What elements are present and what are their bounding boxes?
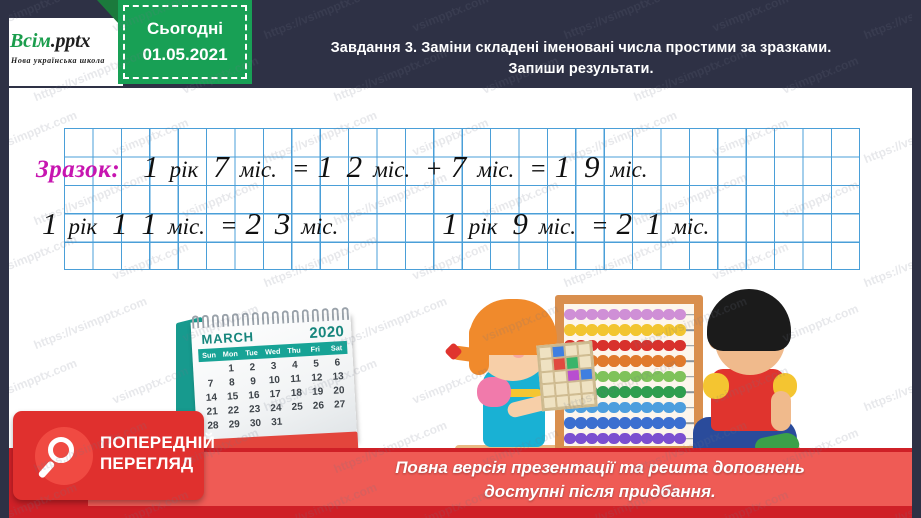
math-token: міс.	[611, 157, 648, 182]
math-token: міс.	[168, 214, 205, 239]
calendar-day	[199, 364, 221, 376]
calendar-day: 20	[328, 385, 350, 397]
calendar-month-label: MARCH	[201, 329, 254, 347]
math-token: 1	[42, 206, 61, 241]
abacus-bead	[641, 309, 653, 321]
math-token: 9	[512, 206, 531, 241]
abacus-bead	[652, 309, 664, 321]
abacus-bead-row	[564, 417, 694, 430]
abacus-bead	[619, 417, 631, 429]
purchase-notice-line-1: Повна версія презентації та решта доповн…	[280, 456, 920, 480]
abacus-bead	[663, 309, 675, 321]
calendar-day	[330, 413, 352, 425]
abacus-bead	[608, 402, 620, 414]
calendar-weekday: Thu	[283, 345, 305, 355]
abacus-bead	[674, 371, 686, 383]
abacus-bead	[597, 417, 609, 429]
abacus-bead	[575, 417, 587, 429]
purchase-notice-line-2: доступні після придбання.	[280, 480, 920, 504]
calendar-day: 31	[266, 416, 288, 428]
abacus-bead	[663, 324, 675, 336]
abacus-bead	[641, 340, 653, 352]
logo-subtitle: Нова українська школа	[11, 56, 105, 65]
abacus-bead	[674, 386, 686, 398]
abacus-bead	[608, 309, 620, 321]
magnifier-handle	[38, 460, 56, 479]
calendar-day: 6	[326, 357, 348, 369]
abacus-bead	[564, 433, 576, 445]
abacus-bead	[641, 355, 653, 367]
abacus-bead	[608, 417, 620, 429]
magnifier-ring	[48, 437, 74, 463]
logo-prefix: Всім	[10, 30, 51, 52]
math-token: 2 3	[245, 206, 293, 241]
math-token: міс.	[240, 157, 277, 182]
abacus-bead	[597, 324, 609, 336]
abacus-bead	[674, 417, 686, 429]
boy-hair	[707, 289, 791, 351]
calendar-spiral-ring	[262, 311, 270, 324]
abacus-bead	[619, 355, 631, 367]
abacus-bead	[597, 371, 609, 383]
calendar-year-label: 2020	[309, 323, 345, 342]
abacus-bead	[674, 340, 686, 352]
calendar-day: 28	[202, 420, 224, 432]
calendar-day: 22	[223, 405, 245, 417]
calendar-spiral-ring	[252, 312, 260, 325]
math-token: 1 9	[555, 149, 603, 184]
math-token: =	[529, 154, 547, 183]
calendar-day: 29	[223, 419, 245, 431]
girl-sleeve	[477, 377, 511, 407]
abacus-bead-row	[564, 308, 694, 321]
abacus-bead	[663, 402, 675, 414]
kids-abacus-illustration	[455, 285, 800, 470]
abacus-bead	[630, 309, 642, 321]
abacus-bead	[619, 324, 631, 336]
abacus-bead	[586, 417, 598, 429]
logo-suffix: .pptx	[51, 30, 91, 52]
calendar-day: 1	[220, 363, 242, 375]
abacus-bead	[641, 386, 653, 398]
abacus-bead	[663, 386, 675, 398]
abacus-bead	[663, 355, 675, 367]
math-token: міс.	[539, 214, 576, 239]
abacus-bead	[630, 433, 642, 445]
abacus-bead	[674, 309, 686, 321]
calendar-day: 26	[308, 400, 330, 412]
abacus-bead	[630, 386, 642, 398]
boy-sleeve-left	[703, 373, 729, 399]
calendar-day: 24	[265, 402, 287, 414]
abacus-bead	[652, 386, 664, 398]
calendar-day: 23	[244, 404, 266, 416]
calendar-day: 25	[286, 401, 308, 413]
preview-button-label: ПОПЕРЕДНІЙ ПЕРЕГЛЯД	[100, 432, 215, 475]
calendar-spiral-ring	[341, 307, 349, 320]
boy-arm	[771, 391, 791, 431]
watermark-text: https://vsimpptx.com	[0, 356, 79, 414]
worksheet-row-1: Зразок: 1рік7міс.=1 2міс.+7міс.=1 9міс.	[0, 149, 796, 185]
abacus-bead	[608, 433, 620, 445]
calendar-spiral-ring	[222, 314, 230, 327]
math-token: =	[292, 154, 310, 183]
abacus-bead	[575, 309, 587, 321]
abacus-bead	[586, 433, 598, 445]
abacus-bead	[641, 371, 653, 383]
today-label: Сьогодні	[147, 16, 223, 42]
calendar-weekday: Sun	[198, 350, 220, 360]
preview-label-line-1: ПОПЕРЕДНІЙ	[100, 432, 215, 453]
abacus-bead	[630, 402, 642, 414]
calendar-day: 4	[284, 359, 306, 371]
math-token: рік	[170, 157, 199, 182]
today-date: 01.05.2021	[142, 42, 227, 68]
abacus-bead	[630, 340, 642, 352]
calendar-day: 7	[200, 378, 222, 390]
sample-label: Зразок:	[36, 156, 120, 183]
abacus-bead	[641, 324, 653, 336]
slide-canvas: MARCH 2020 SunMonTueWedThuFriSat 1234567…	[0, 0, 921, 518]
math-token: рік	[469, 214, 498, 239]
abacus-bead	[641, 402, 653, 414]
abacus-bead	[652, 402, 664, 414]
calendar-spiral-ring	[292, 310, 300, 323]
calendar-spiral-ring	[242, 312, 250, 325]
abacus-bead	[597, 309, 609, 321]
abacus-bead	[586, 309, 598, 321]
calendar-day: 8	[221, 377, 243, 389]
abacus-bead	[630, 371, 642, 383]
calendar-spiral-ring	[321, 308, 329, 321]
frame-border-left	[0, 0, 9, 518]
calendar-spiral-ring	[202, 315, 210, 328]
abacus-bead	[641, 433, 653, 445]
calendar-day: 12	[306, 372, 328, 384]
calendar-day: 30	[245, 418, 267, 430]
today-date-badge: Сьогодні 01.05.2021	[118, 0, 252, 84]
preview-button[interactable]: ПОПЕРЕДНІЙ ПЕРЕГЛЯД	[13, 411, 204, 500]
expression-row-2-right: 1рік9міс.=2 1міс.	[442, 221, 709, 238]
calendar-weekday: Tue	[241, 348, 263, 358]
abacus-bead-row	[564, 324, 694, 337]
calendar-day: 19	[307, 386, 329, 398]
abacus-bead	[630, 324, 642, 336]
calendar-day: 27	[329, 399, 351, 411]
header-underline	[0, 88, 921, 93]
calendar-day: 18	[286, 387, 308, 399]
abacus-bead	[619, 309, 631, 321]
calendar-spiral-ring	[212, 314, 220, 327]
task-instruction-line-2: Запиши результати.	[256, 59, 906, 80]
expression-row-1: 1рік7міс.=1 2міс.+7міс.=1 9міс.	[143, 164, 647, 181]
magnifier-icon	[35, 427, 93, 485]
calendar-day: 9	[242, 376, 264, 388]
abacus-bead	[641, 417, 653, 429]
calendar-day: 11	[285, 373, 307, 385]
calendar-spiral-ring	[311, 309, 319, 322]
calendar-weekday: Fri	[304, 344, 326, 354]
abacus-bead	[652, 340, 664, 352]
calendar-day	[287, 415, 309, 427]
calendar-weekday: Sat	[326, 343, 348, 353]
abacus-bead	[619, 340, 631, 352]
math-token: 1 1	[112, 206, 160, 241]
calendar-day: 14	[201, 392, 223, 404]
worksheet-row-2: 1рік1 1міс.=2 3міс. 1рік9міс.=2 1міс.	[0, 206, 796, 242]
abacus-bead	[619, 371, 631, 383]
abacus-bead	[597, 402, 609, 414]
calendar-day: 5	[305, 358, 327, 370]
abacus-bead	[608, 355, 620, 367]
abacus-bead	[652, 371, 664, 383]
calendar-page: MARCH 2020 SunMonTueWedThuFriSat 1234567…	[191, 314, 358, 451]
math-token: =	[591, 211, 609, 240]
calendar-spiral-ring	[232, 313, 240, 326]
abacus-bead	[575, 433, 587, 445]
logo-wordmark: Всім.pptx	[10, 30, 90, 53]
math-token: міс.	[301, 214, 338, 239]
abacus-bead	[586, 324, 598, 336]
task-instruction: Завдання 3. Заміни складені іменовані чи…	[256, 38, 906, 80]
calendar-day: 15	[222, 391, 244, 403]
abacus-bead	[674, 355, 686, 367]
calendar-day: 21	[201, 406, 223, 418]
calendar-weekday: Wed	[262, 346, 284, 356]
math-token: =	[220, 211, 238, 240]
abacus-bead	[663, 340, 675, 352]
badge-corner-flap	[97, 0, 119, 24]
abacus-bead	[652, 355, 664, 367]
frame-border-right	[912, 0, 921, 518]
abacus-bead	[630, 417, 642, 429]
calendar-day-grid: 1234567891011121314151617181920212223242…	[199, 357, 352, 435]
calendar-spiral-ring	[192, 315, 200, 328]
math-token: міс.	[477, 157, 514, 182]
math-token: міс.	[672, 214, 709, 239]
calendar-spiral-ring	[272, 311, 280, 324]
abacus-bead	[608, 371, 620, 383]
calendar-day: 13	[327, 371, 349, 383]
abacus-bead	[597, 355, 609, 367]
calendar-day: 2	[241, 362, 263, 374]
abacus-bead	[619, 386, 631, 398]
math-token: 7	[213, 149, 232, 184]
abacus-bead	[674, 324, 686, 336]
math-token: 1 2	[317, 149, 365, 184]
purchase-notice: Повна версія презентації та решта доповн…	[280, 456, 920, 504]
abacus-bead	[652, 433, 664, 445]
math-token: +	[425, 154, 443, 183]
abacus-bead	[564, 324, 576, 336]
abacus-bead	[597, 386, 609, 398]
abacus-bead	[630, 355, 642, 367]
calendar-day: 3	[263, 360, 285, 372]
abacus-bead	[652, 417, 664, 429]
math-token: 1	[143, 149, 162, 184]
abacus-bead	[608, 324, 620, 336]
abacus-bead	[608, 340, 620, 352]
calendar-day: 17	[264, 388, 286, 400]
abacus-bead	[564, 309, 576, 321]
math-token: рік	[69, 214, 98, 239]
calendar-day: 16	[243, 390, 265, 402]
math-token: міс.	[373, 157, 410, 182]
abacus-bead	[663, 371, 675, 383]
calendar-day: 10	[263, 374, 285, 386]
calendar-day	[308, 414, 330, 426]
abacus-bead	[619, 402, 631, 414]
preview-label-line-2: ПЕРЕГЛЯД	[100, 453, 215, 474]
abacus-bead	[663, 433, 675, 445]
calendar-spiral-ring	[302, 309, 310, 322]
expression-row-2-left: 1рік1 1міс.=2 3міс.	[42, 221, 338, 238]
math-token: 2 1	[617, 206, 665, 241]
task-instruction-line-1: Завдання 3. Заміни складені іменовані чи…	[256, 38, 906, 59]
calendar-weekday: Mon	[219, 349, 241, 359]
abacus-bead	[663, 417, 675, 429]
abacus-bead	[597, 340, 609, 352]
calendar-spiral-ring	[331, 307, 339, 320]
math-token: 1	[442, 206, 461, 241]
abacus-bead	[597, 433, 609, 445]
abacus-bead	[564, 417, 576, 429]
abacus-bead	[674, 433, 686, 445]
calendar-spiral-ring	[282, 310, 290, 323]
abacus-bead	[619, 433, 631, 445]
abacus-bead	[652, 324, 664, 336]
abacus-bead	[674, 402, 686, 414]
watermark-text: https://vsimpptx.com	[32, 294, 149, 352]
abacus-bead	[575, 324, 587, 336]
abacus-bead-row	[564, 432, 694, 445]
math-token: 7	[451, 149, 470, 184]
counting-card	[536, 341, 598, 412]
site-logo[interactable]: Всім.pptx Нова українська школа	[0, 18, 123, 86]
abacus-bead	[608, 386, 620, 398]
